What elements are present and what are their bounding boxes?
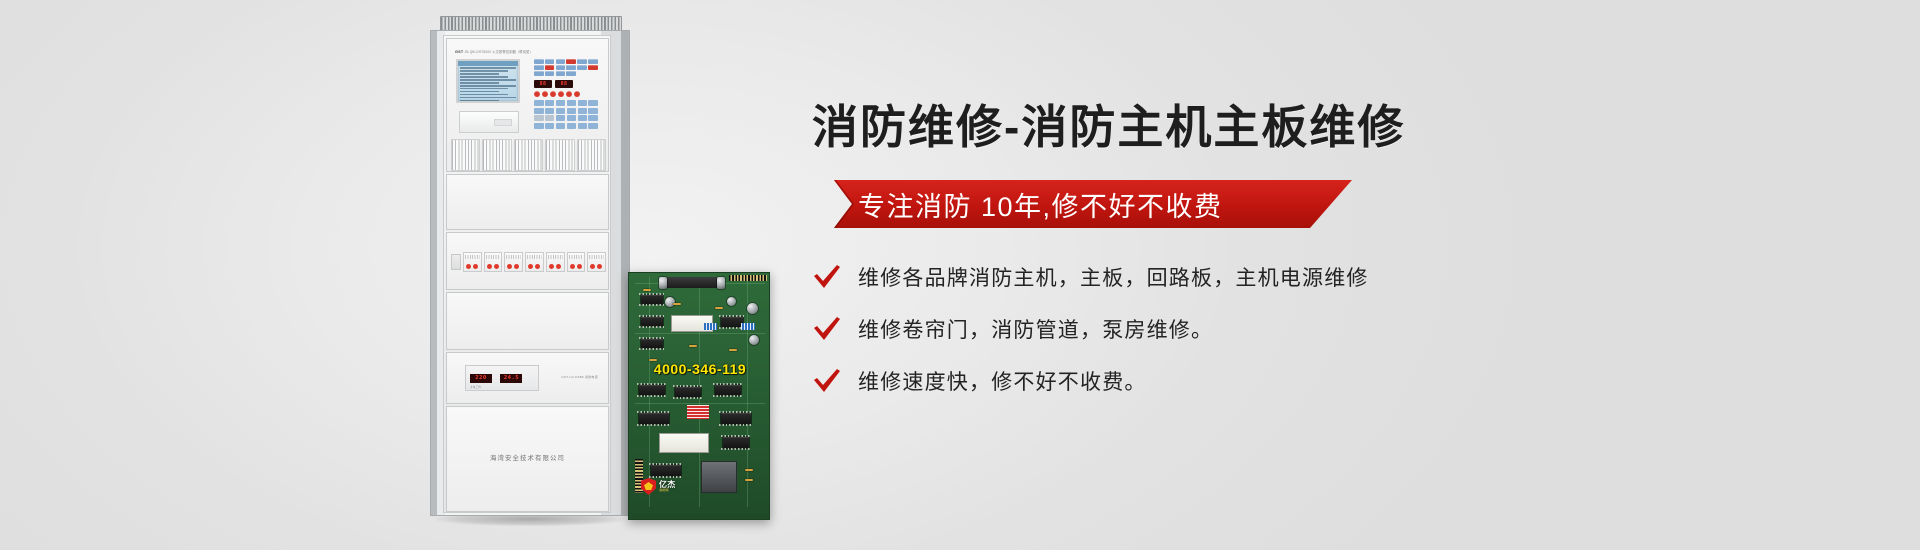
cabinet-printer-slot bbox=[459, 111, 519, 133]
zone-module bbox=[546, 252, 565, 272]
zone-module bbox=[463, 252, 482, 272]
pcb-capacitor bbox=[747, 303, 758, 314]
pcb-capacitor bbox=[665, 297, 675, 307]
pcb-resistor bbox=[689, 345, 697, 347]
pcb-phone-number-overlay: 4000-346-119 bbox=[637, 361, 763, 377]
pcb-capacitor bbox=[749, 335, 759, 345]
pcb-ic-chip bbox=[641, 339, 663, 348]
pcb-ic-chip bbox=[723, 437, 749, 448]
zone-led-row bbox=[451, 251, 606, 273]
list-item: 维修速度快，修不好不收费。 bbox=[812, 366, 1812, 396]
cabinet-power-supply-panel: 220 24.5 主电工作 GST-LD-D988 消防电源 bbox=[446, 352, 609, 404]
cabinet-face: GST JB-QB-GST5000 火灾报警控制器（联动型） bbox=[443, 35, 611, 513]
zone-selector-knob bbox=[451, 254, 461, 270]
check-icon bbox=[812, 368, 858, 394]
pcb-ic-chip bbox=[675, 387, 701, 397]
keypad-display-right: 88 bbox=[555, 80, 573, 88]
cabinet-zone-annunciator bbox=[446, 232, 609, 290]
cabinet-keypad: 88 88 bbox=[534, 59, 600, 151]
pcb-capacitor bbox=[659, 277, 667, 289]
psu-voltage-display: 220 bbox=[470, 374, 492, 383]
circuit-board-image: 4000-346-119 亿杰 消防网 bbox=[628, 272, 770, 520]
keypad-indicator-leds bbox=[534, 59, 600, 76]
keypad-button-grid bbox=[534, 100, 600, 128]
cabinet-main-panel: GST JB-QB-GST5000 火灾报警控制器（联动型） bbox=[446, 38, 609, 172]
keypad-round-buttons bbox=[534, 91, 600, 97]
list-item: 维修各品牌消防主机，主板，回路板，主机电源维修 bbox=[812, 262, 1812, 292]
feature-text: 维修卷帘门，消防管道，泵房维修。 bbox=[858, 314, 1213, 344]
feature-list: 维修各品牌消防主机，主板，回路板，主机电源维修 维修卷帘门，消防管道，泵房维修。… bbox=[812, 262, 1812, 396]
pcb-qfp-processor bbox=[701, 461, 737, 493]
feature-text: 维修各品牌消防主机，主板，回路板，主机电源维修 bbox=[858, 262, 1369, 292]
ribbon-tail bbox=[812, 180, 856, 228]
power-supply-module: 220 24.5 主电工作 bbox=[465, 365, 539, 391]
check-icon bbox=[812, 264, 858, 290]
zone-module bbox=[504, 252, 523, 272]
cabinet-blank-panel-upper bbox=[446, 174, 609, 230]
keypad-display-left: 88 bbox=[534, 80, 552, 88]
promo-content: 消防维修-消防主机主板维修 专注消防 10年,修不好不收费 维修各品牌消防主机，… bbox=[812, 104, 1812, 418]
fire-alarm-control-panel-image: GST JB-QB-GST5000 火灾报警控制器（联动型） bbox=[430, 16, 630, 526]
pcb-ic-chip bbox=[721, 317, 743, 327]
shield-icon bbox=[641, 478, 656, 495]
zone-module bbox=[484, 252, 503, 272]
zone-module bbox=[525, 252, 544, 272]
zone-module bbox=[587, 252, 606, 272]
pcb-resistor bbox=[715, 307, 723, 309]
pcb-ic-chip bbox=[639, 385, 665, 395]
lcd-text-rows bbox=[458, 66, 518, 103]
pcb-pin-header bbox=[729, 275, 767, 281]
pcb-resistor bbox=[673, 303, 681, 305]
pcb-capacitor bbox=[727, 297, 736, 306]
pcb-ic-chip bbox=[639, 413, 669, 424]
page-title: 消防维修-消防主机主板维修 bbox=[812, 104, 1812, 150]
psu-model-label: GST-LD-D988 消防电源 bbox=[561, 375, 598, 379]
psu-status-label-main: 主电工作 bbox=[470, 385, 534, 389]
keypad-digital-displays: 88 88 bbox=[534, 80, 600, 88]
pcb-ic-chip bbox=[651, 465, 681, 476]
cabinet-body: GST JB-QB-GST5000 火灾报警控制器（联动型） bbox=[430, 30, 630, 516]
pcb-eprom bbox=[659, 433, 709, 453]
pcb-capacitor bbox=[717, 277, 725, 289]
zone-module bbox=[567, 252, 586, 272]
cabinet-top-label: GST JB-QB-GST5000 火灾报警控制器（联动型） bbox=[455, 49, 533, 54]
pcb-surface: 4000-346-119 亿杰 消防网 bbox=[628, 272, 770, 520]
promo-banner: GST JB-QB-GST5000 火灾报警控制器（联动型） bbox=[0, 0, 1920, 550]
list-item: 维修卷帘门，消防管道，泵房维修。 bbox=[812, 314, 1812, 344]
cabinet-manufacturer-label: 海湾安全技术有限公司 bbox=[447, 453, 608, 462]
tagline-ribbon: 专注消防 10年,修不好不收费 bbox=[812, 180, 1352, 228]
pcb-watermark-logo: 亿杰 消防网 bbox=[641, 478, 675, 495]
pcb-ic-chip bbox=[641, 295, 663, 304]
cabinet-brand-mark: GST bbox=[455, 50, 463, 54]
cabinet-footer-panel: 海湾安全技术有限公司 bbox=[446, 406, 609, 512]
check-icon bbox=[812, 316, 858, 342]
tagline-text: 专注消防 10年,修不好不收费 bbox=[858, 185, 1223, 224]
pcb-dip-switch-red bbox=[687, 405, 709, 419]
feature-text: 维修速度快，修不好不收费。 bbox=[858, 366, 1147, 396]
psu-current-display: 24.5 bbox=[500, 374, 522, 383]
cabinet-lcd-screen bbox=[456, 59, 520, 103]
pcb-ic-chip bbox=[721, 413, 751, 424]
pcb-dip-switch bbox=[703, 323, 717, 330]
cabinet-blank-panel-mid bbox=[446, 292, 609, 350]
pcb-resistor bbox=[729, 349, 737, 351]
pcb-ic-chip bbox=[641, 317, 663, 326]
cabinet-terminal-strips bbox=[451, 139, 606, 171]
watermark-sub-text: 消防网 bbox=[659, 489, 675, 492]
pcb-connector-top bbox=[665, 277, 717, 288]
pcb-dip-switch bbox=[741, 323, 755, 330]
pcb-ic-chip bbox=[715, 385, 741, 395]
